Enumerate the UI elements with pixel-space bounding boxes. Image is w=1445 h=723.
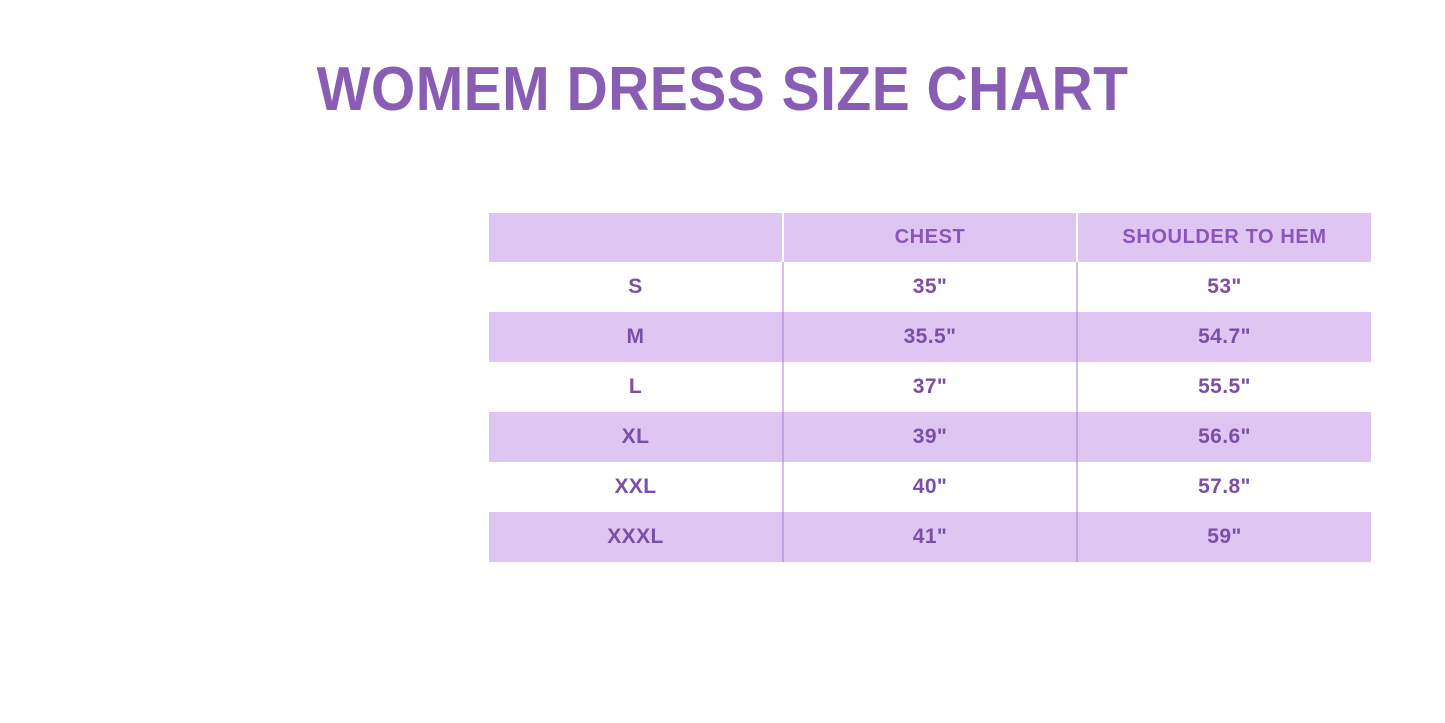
cell-size: S	[489, 262, 783, 312]
cell-shoulder-to-hem: 57.8"	[1077, 462, 1371, 512]
cell-chest: 41"	[783, 512, 1077, 562]
size-chart-table-container: CHEST SHOULDER TO HEM S 35" 53" M 35.5" …	[489, 213, 1371, 566]
cell-shoulder-to-hem: 59"	[1077, 512, 1371, 562]
header-cell-shoulder-to-hem: SHOULDER TO HEM	[1077, 213, 1371, 262]
cell-size: XXL	[489, 462, 783, 512]
table-row: M 35.5" 54.7"	[489, 312, 1371, 362]
cell-chest: 37"	[783, 362, 1077, 412]
table-header-row: CHEST SHOULDER TO HEM	[489, 213, 1371, 262]
cell-size: M	[489, 312, 783, 362]
cell-chest: 39"	[783, 412, 1077, 462]
size-chart-page: WOMEM DRESS SIZE CHART CHEST SHOULDER TO…	[0, 0, 1445, 723]
cell-shoulder-to-hem: 56.6"	[1077, 412, 1371, 462]
cell-size: L	[489, 362, 783, 412]
header-cell-size	[489, 213, 783, 262]
cell-shoulder-to-hem: 53"	[1077, 262, 1371, 312]
table-row: XXL 40" 57.8"	[489, 462, 1371, 512]
cell-shoulder-to-hem: 54.7"	[1077, 312, 1371, 362]
cell-size: XL	[489, 412, 783, 462]
table-row: L 37" 55.5"	[489, 362, 1371, 412]
header-cell-chest: CHEST	[783, 213, 1077, 262]
cell-size: XXXL	[489, 512, 783, 562]
cell-shoulder-to-hem: 55.5"	[1077, 362, 1371, 412]
table-row: XL 39" 56.6"	[489, 412, 1371, 462]
cell-chest: 35.5"	[783, 312, 1077, 362]
table-row: S 35" 53"	[489, 262, 1371, 312]
page-title: WOMEM DRESS SIZE CHART	[58, 52, 1387, 128]
table-row: XXXL 41" 59"	[489, 512, 1371, 562]
cell-chest: 35"	[783, 262, 1077, 312]
cell-chest: 40"	[783, 462, 1077, 512]
size-chart-table: CHEST SHOULDER TO HEM S 35" 53" M 35.5" …	[489, 213, 1371, 562]
